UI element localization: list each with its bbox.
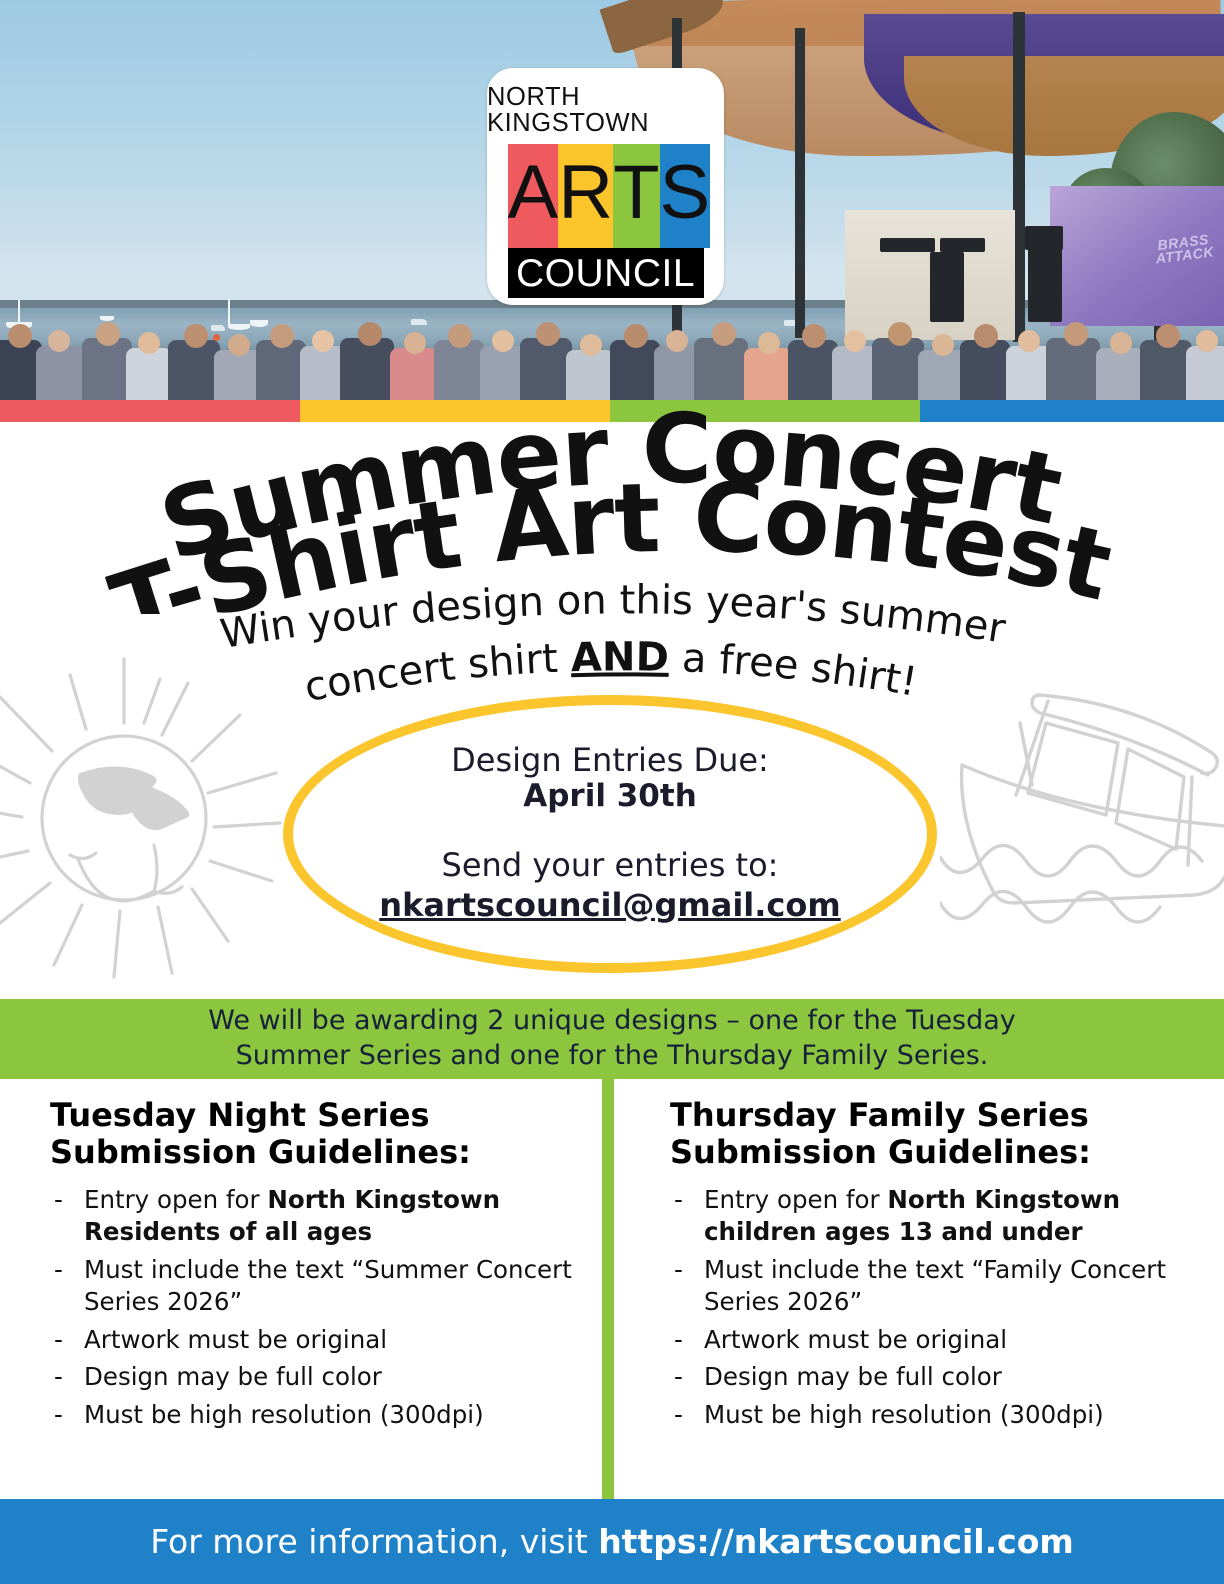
- poster-title: Summer Concert T-Shirt Art Contest: [0, 404, 1224, 604]
- list-item: - Must include the text “Family Concert …: [670, 1254, 1194, 1318]
- header-photo: BRASS ATTACK: [0, 0, 1224, 400]
- list-item: - Entry open for North Kingstown childre…: [670, 1184, 1194, 1248]
- bullet-marker: -: [50, 1399, 84, 1431]
- logo-letter-r: R: [558, 155, 613, 231]
- list-item-text: Design may be full color: [704, 1361, 1194, 1393]
- thursday-guidelines-list: - Entry open for North Kingstown childre…: [670, 1184, 1194, 1431]
- bullet-marker: -: [670, 1324, 704, 1356]
- design-entries-due-label: Design Entries Due:: [451, 744, 769, 778]
- bullet-marker: -: [50, 1254, 84, 1286]
- sun-with-sunglasses-icon: [0, 655, 312, 995]
- arts-council-logo: NORTH KINGSTOWN A R T S COUNCIL: [487, 68, 724, 305]
- thursday-column-heading: Thursday Family Series Submission Guidel…: [670, 1097, 1194, 1171]
- list-item-text: Entry open for North Kingstown children …: [704, 1184, 1194, 1248]
- logo-letter-t-cell: T: [613, 144, 659, 248]
- footer-bar: For more information, visit https://nkar…: [0, 1499, 1224, 1584]
- list-item-text: Design may be full color: [84, 1361, 582, 1393]
- list-item: - Entry open for North Kingstown Residen…: [50, 1184, 582, 1248]
- logo-letter-r-cell: R: [558, 144, 613, 248]
- logo-letter-a-cell: A: [508, 144, 559, 248]
- item-text-pre: Entry open for: [704, 1185, 887, 1214]
- subtitle-and-emphasis: AND: [570, 634, 669, 681]
- logo-letter-s: S: [660, 155, 711, 231]
- submission-email-link[interactable]: nkartscouncil@gmail.com: [379, 886, 840, 924]
- list-item: - Must be high resolution (300dpi): [50, 1399, 582, 1431]
- send-entries-label: Send your entries to:: [442, 849, 779, 883]
- thursday-guidelines-column: Thursday Family Series Submission Guidel…: [612, 1085, 1224, 1485]
- awards-banner: We will be awarding 2 unique designs – o…: [0, 999, 1224, 1079]
- design-entries-due-date: April 30th: [523, 779, 697, 815]
- poster-root: BRASS ATTACK: [0, 0, 1224, 1584]
- thursday-heading-line-2: Submission Guidelines:: [670, 1133, 1091, 1171]
- speaker: [880, 238, 935, 252]
- list-item-text: Must be high resolution (300dpi): [704, 1399, 1194, 1431]
- list-item: - Design may be full color: [50, 1361, 582, 1393]
- fishing-boat-icon: [940, 655, 1224, 985]
- thursday-heading-line-1: Thursday Family Series: [670, 1096, 1089, 1134]
- list-item-text: Artwork must be original: [704, 1324, 1194, 1356]
- list-item-text: Must include the text “Summer Concert Se…: [84, 1254, 582, 1318]
- logo-letter-a: A: [508, 155, 559, 231]
- bullet-marker: -: [670, 1399, 704, 1431]
- bullet-marker: -: [670, 1254, 704, 1286]
- logo-bottom-text: COUNCIL: [516, 254, 695, 293]
- tuesday-heading-line-2: Submission Guidelines:: [50, 1133, 471, 1171]
- awards-banner-line-2: Summer Series and one for the Thursday F…: [236, 1040, 989, 1071]
- footer-prefix: For more information, visit: [150, 1522, 598, 1561]
- concert-crowd: [0, 310, 1224, 400]
- list-item-text: Must include the text “Family Concert Se…: [704, 1254, 1194, 1318]
- logo-top-text: NORTH KINGSTOWN: [487, 85, 724, 136]
- speaker: [1025, 226, 1063, 250]
- guidelines-columns: Tuesday Night Series Submission Guidelin…: [0, 1085, 1224, 1485]
- item-text-pre: Entry open for: [84, 1185, 267, 1214]
- speaker: [940, 238, 985, 252]
- list-item-text: Artwork must be original: [84, 1324, 582, 1356]
- list-item-text: Entry open for North Kingstown Residents…: [84, 1184, 582, 1248]
- canopy-post: [795, 28, 805, 338]
- list-item: - Must be high resolution (300dpi): [670, 1399, 1194, 1431]
- logo-letter-blocks: A R T S: [508, 144, 704, 248]
- footer-url[interactable]: https://nkartscouncil.com: [598, 1522, 1074, 1561]
- tuesday-guidelines-list: - Entry open for North Kingstown Residen…: [50, 1184, 582, 1431]
- bullet-marker: -: [670, 1184, 704, 1216]
- tuesday-heading-line-1: Tuesday Night Series: [50, 1096, 429, 1134]
- logo-bottom-bar: COUNCIL: [508, 248, 704, 298]
- list-item-text: Must be high resolution (300dpi): [84, 1399, 582, 1431]
- subtitle-line-2-post: a free shirt!: [668, 635, 920, 706]
- tuesday-guidelines-column: Tuesday Night Series Submission Guidelin…: [0, 1085, 612, 1485]
- list-item: - Must include the text “Summer Concert …: [50, 1254, 582, 1318]
- awards-banner-line-1: We will be awarding 2 unique designs – o…: [208, 1005, 1016, 1036]
- entry-details-oval: Design Entries Due: April 30th Send your…: [283, 695, 937, 973]
- tuesday-column-heading: Tuesday Night Series Submission Guidelin…: [50, 1097, 582, 1171]
- bullet-marker: -: [670, 1361, 704, 1393]
- logo-letter-s-cell: S: [660, 144, 711, 248]
- bullet-marker: -: [50, 1324, 84, 1356]
- logo-letter-t: T: [613, 155, 659, 231]
- list-item: - Artwork must be original: [50, 1324, 582, 1356]
- list-item: - Artwork must be original: [670, 1324, 1194, 1356]
- list-item: - Design may be full color: [670, 1361, 1194, 1393]
- footer-text: For more information, visit https://nkar…: [150, 1522, 1074, 1561]
- bullet-marker: -: [50, 1184, 84, 1216]
- bullet-marker: -: [50, 1361, 84, 1393]
